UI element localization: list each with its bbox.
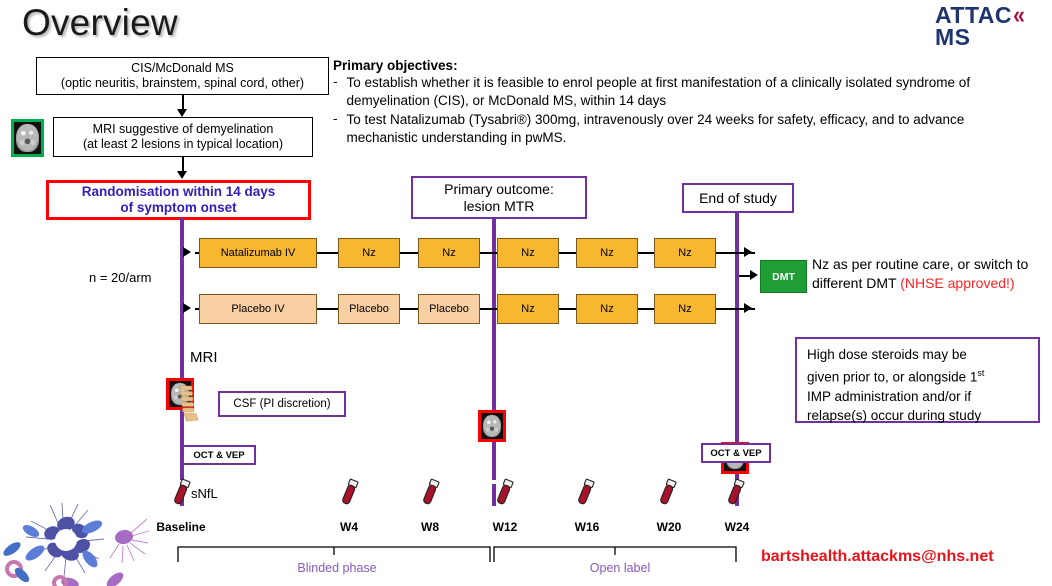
active-arm-cell-1: Nz [338,238,400,268]
objectives-heading-text: Primary objectives [333,58,453,73]
arrow-down-2 [177,171,187,179]
logo-k-chevron-icon: « [1013,4,1025,26]
steroids-line-4: relapse(s) occur during study [807,406,1028,425]
placebo-arm-cell-5: Nz [654,294,716,324]
blood-tube-icon-w4 [338,478,360,508]
blood-tube-icon-w24 [724,478,746,508]
objectives-heading-colon: : [453,58,458,73]
timeline-label-w24: W24 [703,520,771,534]
bullet-dash-2: - [333,111,338,147]
mri-label: MRI [190,349,218,366]
blood-tube-icon-baseline [170,478,192,508]
placebo-arm-cell-0: Placebo IV [199,294,317,324]
objective-item-1: - To establish whether it is feasible to… [333,74,1039,110]
timeline-label-baseline: Baseline [145,520,217,534]
arrow-into-active-arm [183,247,191,257]
dmt-text-nhse: (NHSE approved!) [900,275,1014,291]
oct-vep-box-baseline: OCT & VEP [182,445,256,465]
active-arm-cell-0: Natalizumab IV [199,238,317,268]
inclusion-criteria-box: CIS/McDonald MS (optic neuritis, brainst… [36,57,329,95]
primary-outcome-line-2: lesion MTR [444,198,554,215]
arrow-out-placebo-arm [744,303,752,313]
criteria-line-4: (at least 2 lesions in typical location) [83,137,283,152]
mri-criteria-box: MRI suggestive of demyelination (at leas… [53,117,313,157]
timeline-label-w4: W4 [315,520,383,534]
primary-objectives-block: Primary objectives: - To establish wheth… [333,58,1039,147]
objective-text-2: To test Natalizumab (Tysabri®) 300mg, in… [347,111,1040,147]
logo-line-2: MS [935,26,1026,48]
steroids-line-1: High dose steroids may be [807,345,1028,364]
objective-text-1: To establish whether it is feasible to e… [347,74,1040,110]
timeline-label-w20: W20 [635,520,703,534]
snfl-label: sNfL [191,486,218,501]
steroids-line-2: given prior to, or alongside 1st [807,364,1028,387]
dmt-badge: DMT [760,260,807,293]
page-title: Overview [22,2,178,44]
objective-item-2: - To test Natalizumab (Tysabri®) 300mg, … [333,111,1039,147]
neuron-illustration [0,497,150,586]
placebo-arm-cell-2: Placebo [418,294,480,324]
blood-tube-icon-w12 [493,478,515,508]
steroids-line-2-text: given prior to, or alongside 1 [807,370,977,385]
bullet-dash-1: - [333,74,338,110]
primary-outcome-callout: Primary outcome: lesion MTR [411,176,587,219]
steroids-note-box: High dose steroids may be given prior to… [795,337,1040,423]
logo-line-1: ATTAC« [935,4,1026,26]
phase-label-open: Open label [545,561,695,575]
arrow-to-dmt [750,270,758,280]
arrow-into-placebo-arm [183,303,191,313]
spine-illustration [178,384,200,428]
oct-vep-box-w24: OCT & VEP [701,443,771,463]
steroids-line-3: IMP administration and/or if [807,387,1028,406]
blood-tube-icon-w20 [656,478,678,508]
contact-email[interactable]: bartshealth.attackms@nhs.net [761,548,994,566]
active-arm-cell-3: Nz [497,238,559,268]
placebo-arm-cell-3: Nz [497,294,559,324]
timeline-label-w8: W8 [396,520,464,534]
active-arm-cell-4: Nz [576,238,638,268]
primary-outcome-line-1: Primary outcome: [444,181,554,198]
randomisation-line-2: of symptom onset [82,200,276,216]
steroids-ordinal-suffix: st [977,368,984,378]
brain-mri-thumbnail [11,119,44,157]
csf-box: CSF (PI discretion) [218,391,346,417]
phase-label-blinded: Blinded phase [262,561,412,575]
randomisation-box: Randomisation within 14 days of symptom … [46,180,311,220]
timeline-marker-baseline [180,218,184,480]
active-arm-cell-5: Nz [654,238,716,268]
end-of-study-callout: End of study [682,183,794,213]
criteria-line-1: CIS/McDonald MS [61,61,304,76]
criteria-line-3: MRI suggestive of demyelination [83,122,283,137]
timeline-label-w12: W12 [471,520,539,534]
objectives-heading: Primary objectives: [333,58,1039,73]
randomisation-line-1: Randomisation within 14 days [82,184,276,200]
attack-ms-logo: ATTAC« MS [935,4,1026,48]
sample-size-label: n = 20/arm [89,270,152,285]
criteria-line-2: (optic neuritis, brainstem, spinal cord,… [61,76,304,91]
dmt-description: Nz as per routine care, or switch to dif… [812,255,1052,293]
arrow-down-1 [177,109,187,117]
brain-scan-image-w12 [483,415,501,437]
arrow-out-active-arm [744,247,752,257]
active-arm-cell-2: Nz [418,238,480,268]
placebo-arm-cell-4: Nz [576,294,638,324]
brain-scan-image [16,124,39,152]
blood-tube-icon-w16 [574,478,596,508]
blood-tube-icon-w8 [419,478,441,508]
placebo-arm-cell-1: Placebo [338,294,400,324]
timeline-label-w16: W16 [553,520,621,534]
mri-assessment-icon-w12 [478,410,506,442]
